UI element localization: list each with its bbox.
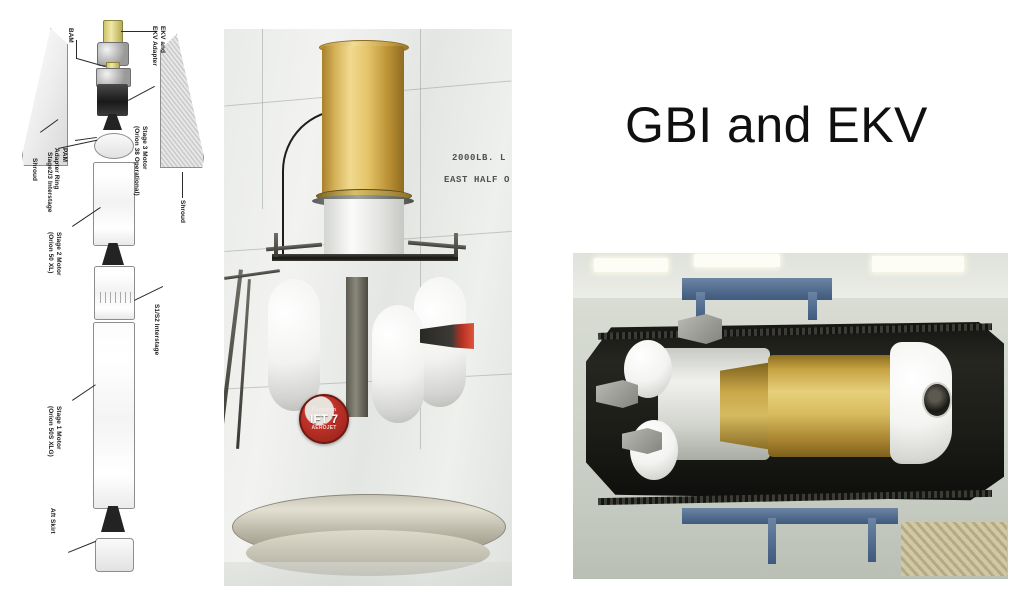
leader-aft-skirt [68, 541, 96, 553]
stage1-nozzle-graphic [101, 506, 125, 532]
blue-rig-leg [768, 518, 776, 564]
ceiling-light [872, 256, 964, 272]
shroud-half-right-graphic [160, 34, 204, 168]
blue-rig-leg [868, 518, 876, 562]
center-structure [346, 277, 368, 417]
badge-bottom-text: AEROJET [311, 425, 336, 431]
ekv-vertical-photo: 2000LB. L EAST HALF O Raytheon IFT 7 [224, 29, 512, 586]
label-bam: BAM [66, 28, 74, 43]
label-pam-adapter-ring: PAM Adapter Ring [52, 148, 68, 189]
leader-s1s2 [134, 286, 163, 301]
label-stage1-motor: Stage 1 Motor (Orion 50S XLG) [46, 406, 62, 457]
stage2-motor-graphic [93, 162, 135, 246]
cleanroom-floor [224, 562, 512, 586]
ift-7-mission-badge: Raytheon IFT 7 AEROJET [299, 394, 349, 444]
label-aft-skirt: Aft Skirt [48, 508, 56, 534]
shroud-half-left-graphic [22, 28, 68, 166]
handling-post-right [454, 233, 458, 257]
label-s1s2-interstage: S1/S2 Interstage [152, 304, 160, 355]
stage3-motor-graphic [97, 84, 128, 116]
stage1-motor-graphic [93, 322, 135, 509]
slide-title: GBI and EKV [625, 96, 928, 154]
interstage-ring-detail [96, 292, 131, 303]
stage2-nozzle-graphic [102, 243, 124, 265]
blue-handling-rig-bottom [682, 508, 898, 524]
label-shroud-left: Shroud [30, 158, 38, 181]
gold-cylinder-body [768, 355, 898, 457]
blue-rig-leg [808, 292, 817, 320]
pam-adapter-ring-graphic [94, 133, 134, 159]
slide-root: EKV and EKV Adapter BAM Shroud Stage 3 M… [0, 0, 1022, 615]
wall-stencil-line-1: 2000LB. L [452, 153, 506, 163]
leader-bam-v [76, 40, 77, 59]
gold-cylinder-body [322, 46, 404, 196]
ekv-bus-section [324, 199, 404, 261]
seeker-aperture [922, 382, 952, 418]
propellant-tank-center [372, 305, 424, 423]
stage3-nozzle-graphic [103, 114, 122, 130]
wall-stencil-line-2: EAST HALF O [444, 175, 510, 185]
leader-shroud-right [182, 172, 183, 198]
label-stage3-motor: Stage 3 Motor (Orion 38 Operational) [132, 126, 148, 196]
support-truss [272, 254, 458, 261]
floor-grating [901, 522, 1007, 576]
ekv-in-shroud-photo [572, 252, 1009, 580]
handling-post-left [274, 233, 278, 257]
ceiling-light [694, 254, 780, 267]
label-stage23-interstage: Stage2/3 Interstage [45, 152, 53, 213]
wall-panel-seam [262, 29, 263, 209]
ekv-assembly-graphic [103, 20, 123, 44]
aft-skirt-graphic [95, 538, 134, 572]
label-stage2-motor: Stage 2 Motor (Orion 50 XL) [46, 232, 62, 276]
leader-stage3 [128, 86, 155, 101]
label-ekv-and-adapter: EKV and EKV Adapter [150, 26, 166, 66]
gbi-exploded-diagram: EKV and EKV Adapter BAM Shroud Stage 3 M… [0, 0, 215, 615]
badge-main-text: IFT 7 [310, 413, 338, 425]
ceiling-light [594, 258, 668, 272]
gold-transition-section [720, 362, 772, 450]
label-shroud-right: Shroud [178, 200, 186, 223]
propellant-tank-left [268, 279, 320, 411]
